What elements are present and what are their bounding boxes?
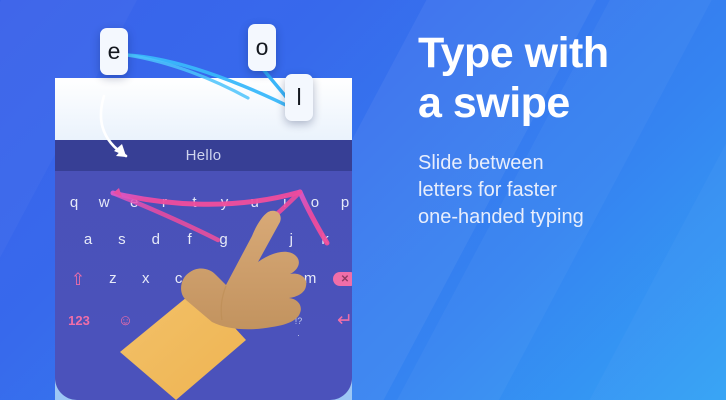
- key-b[interactable]: b: [231, 269, 257, 289]
- key-d[interactable]: d: [143, 230, 169, 250]
- key-e[interactable]: e: [121, 193, 147, 213]
- key-s[interactable]: s: [109, 230, 135, 250]
- punctuation-key[interactable]: !? .: [286, 316, 312, 326]
- subtitle-line-1: Slide between: [418, 152, 544, 174]
- right-arrow-key[interactable]: ›: [243, 313, 267, 328]
- keyboard-row-3: ⇧ z x c v b n m ✕: [55, 268, 352, 290]
- floating-key-e[interactable]: e: [100, 28, 128, 75]
- key-u[interactable]: u: [242, 193, 268, 213]
- subtitle-line-2: letters for faster: [418, 179, 557, 201]
- smiley-face-icon[interactable]: ☺: [114, 312, 138, 329]
- key-o[interactable]: o: [302, 193, 328, 213]
- microphone-icon: [165, 312, 174, 326]
- key-i[interactable]: i: [272, 193, 298, 213]
- key-r[interactable]: r: [151, 193, 177, 213]
- headline-line-1: Type with: [418, 29, 609, 77]
- left-arrow-key[interactable]: ‹: [201, 313, 225, 328]
- key-y[interactable]: y: [212, 193, 238, 213]
- suggestion-word[interactable]: Hello: [186, 147, 222, 164]
- floating-key-l[interactable]: l: [285, 74, 313, 121]
- key-l[interactable]: l: [346, 230, 352, 250]
- key-x[interactable]: x: [133, 269, 159, 289]
- enter-icon[interactable]: ↵: [330, 311, 352, 330]
- key-h[interactable]: h: [244, 230, 270, 250]
- key-n[interactable]: n: [264, 269, 290, 289]
- comma-key[interactable]: ,: [156, 326, 182, 336]
- key-t[interactable]: t: [181, 193, 207, 213]
- key-m[interactable]: m: [297, 269, 323, 289]
- floating-key-o[interactable]: o: [248, 24, 276, 71]
- backspace-icon[interactable]: ✕: [333, 272, 352, 286]
- page-title: Type with a swipe: [418, 28, 718, 128]
- key-w[interactable]: w: [91, 193, 117, 213]
- on-screen-keyboard[interactable]: q w e r t y u i o p a s d f g h j k: [55, 171, 352, 400]
- phone-screen: Hello q w e r t y u i o p a s d f: [55, 78, 352, 400]
- numbers-key[interactable]: 123: [63, 313, 95, 328]
- shift-icon[interactable]: ⇧: [63, 268, 93, 290]
- keyboard-row-4: 123 ☺ , ‹ › !? . ↵: [55, 311, 352, 330]
- punctuation-label[interactable]: !?: [295, 316, 303, 326]
- key-j[interactable]: j: [278, 230, 304, 250]
- floating-key-l-label: l: [296, 84, 301, 111]
- key-g[interactable]: g: [211, 230, 237, 250]
- key-z[interactable]: z: [100, 269, 126, 289]
- floating-key-e-label: e: [108, 38, 121, 65]
- page-subtitle: Slide between letters for faster one-han…: [418, 150, 718, 231]
- key-k[interactable]: k: [312, 230, 338, 250]
- marketing-copy: Type with a swipe Slide between letters …: [418, 28, 718, 231]
- microphone-key[interactable]: ,: [156, 312, 182, 329]
- floating-key-o-label: o: [256, 34, 269, 61]
- key-c[interactable]: c: [166, 269, 192, 289]
- keyboard-row-2: a s d f g h j k l: [55, 230, 352, 250]
- suggestion-bar[interactable]: Hello: [55, 140, 352, 171]
- key-a[interactable]: a: [75, 230, 101, 250]
- backspace-button[interactable]: ✕: [330, 268, 352, 290]
- period-key[interactable]: .: [286, 328, 312, 338]
- promo-banner: Hello q w e r t y u i o p a s d f: [0, 0, 726, 400]
- key-p[interactable]: p: [332, 193, 352, 213]
- keyboard-row-1: q w e r t y u i o p: [55, 193, 352, 213]
- key-q[interactable]: q: [61, 193, 87, 213]
- subtitle-line-3: one-handed typing: [418, 206, 584, 228]
- key-v[interactable]: v: [199, 269, 225, 289]
- headline-line-2: a swipe: [418, 79, 570, 127]
- key-f[interactable]: f: [177, 230, 203, 250]
